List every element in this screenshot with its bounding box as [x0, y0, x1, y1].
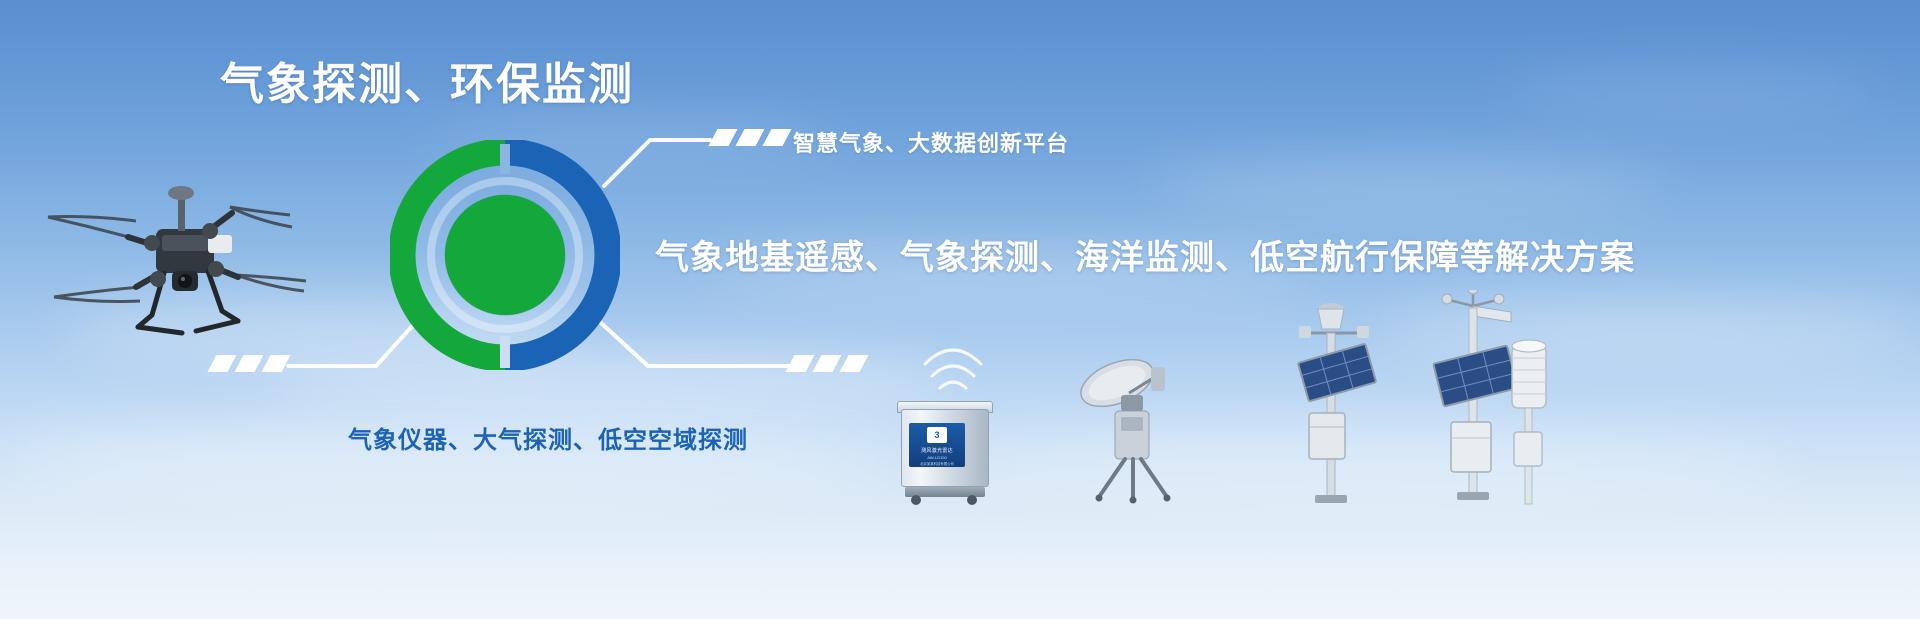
slash-marks-top	[713, 129, 787, 146]
solar-weather-station-1	[1275, 295, 1400, 510]
cloud-streak	[1500, 70, 1880, 110]
callout-instruments: 气象仪器、大气探测、低空空域探测	[348, 420, 748, 455]
dual-ring-logo	[390, 140, 620, 370]
cabinet-brand-logo: 3	[927, 427, 947, 443]
callout-solutions: 气象地基遥感、气象探测、海洋监测、低空航行保障等解决方案	[655, 230, 1635, 279]
cabinet-model-code: AW-LD100	[909, 455, 965, 460]
cabinet-wheel	[911, 495, 921, 505]
cabinet-company: 北京某某科技有限公司	[909, 461, 965, 466]
callout-smart-weather: 智慧气象、大数据创新平台	[793, 126, 1069, 158]
lidar-cabinet-image: 3 测风激光雷达 AW-LD100 北京某某科技有限公司	[895, 395, 995, 505]
cabinet-wheel	[967, 495, 977, 505]
cabinet-model-name: 测风激光雷达	[909, 447, 965, 454]
weather-detection-banner: 气象探测、环保监测 智慧气象、大数据创新平台 气象地基遥感、气象探测、海洋监测、…	[0, 0, 1920, 619]
cloud-streak	[1150, 160, 1670, 210]
drone-image	[40, 155, 310, 355]
slash-marks-bottom-left	[212, 355, 286, 372]
satellite-dish-image	[1075, 355, 1195, 505]
page-title: 气象探测、环保监测	[220, 48, 634, 112]
cylinder-sensor-image	[1498, 300, 1558, 510]
signal-waves-icon	[918, 330, 988, 394]
slash-marks-bottom-right	[790, 355, 864, 372]
